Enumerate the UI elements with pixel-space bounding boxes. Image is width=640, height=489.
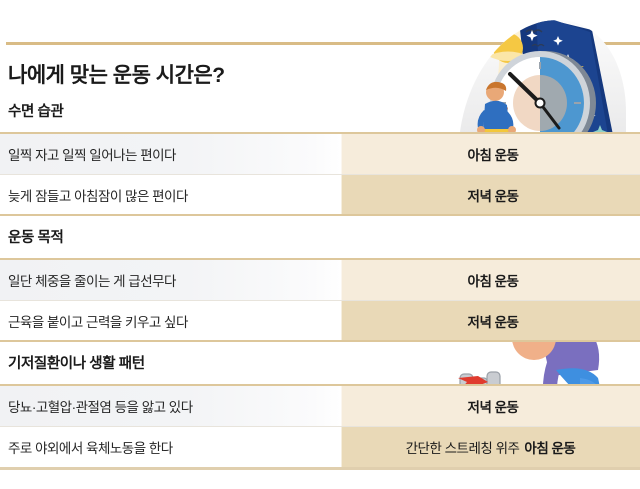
row-value-main: 아침 운동 bbox=[524, 437, 575, 457]
row-value-main: 저녁 운동 bbox=[468, 311, 519, 331]
page-title-lead: 나에게 맞는 bbox=[8, 64, 113, 87]
table-row[interactable]: 당뇨·고혈압·관절염 등을 앓고 있다 저녁 운동 bbox=[0, 386, 640, 427]
row-value-main: 아침 운동 bbox=[468, 144, 519, 164]
row-value: 저녁 운동 bbox=[341, 386, 640, 426]
table-row[interactable]: 근육을 붙이고 근력을 키우고 싶다 저녁 운동 bbox=[0, 301, 640, 342]
advice-table: 수면 습관 일찍 자고 일찍 일어나는 편이다 아침 운동 늦게 잠들고 아침잠… bbox=[0, 92, 640, 470]
row-label: 근육을 붙이고 근력을 키우고 싶다 bbox=[0, 301, 341, 341]
section-header: 기저질환이나 생활 패턴 bbox=[0, 340, 640, 386]
table-row[interactable]: 일찍 자고 일찍 일어나는 편이다 아침 운동 bbox=[0, 134, 640, 175]
row-value-main: 저녁 운동 bbox=[468, 396, 519, 416]
infographic-root: 나에게 맞는 운동 시간은? 수면 습관 일찍 자고 일찍 일어나는 편이다 아… bbox=[0, 0, 640, 484]
section-exercise-goal: 운동 목적 일단 체중을 줄이는 게 급선무다 아침 운동 근육을 붙이고 근력… bbox=[0, 214, 640, 342]
row-value: 저녁 운동 bbox=[341, 301, 640, 341]
section-sleep-habits: 수면 습관 일찍 자고 일찍 일어나는 편이다 아침 운동 늦게 잠들고 아침잠… bbox=[0, 90, 640, 216]
row-value-lead: 간단한 스트레칭 위주 bbox=[406, 437, 520, 457]
row-label: 늦게 잠들고 아침잠이 많은 편이다 bbox=[0, 175, 341, 215]
section-header: 수면 습관 bbox=[0, 90, 640, 134]
section-title: 수면 습관 bbox=[8, 100, 63, 121]
row-value: 아침 운동 bbox=[341, 260, 640, 300]
row-value-main: 아침 운동 bbox=[468, 270, 519, 290]
row-value-main: 저녁 운동 bbox=[468, 185, 519, 205]
row-label: 일단 체중을 줄이는 게 급선무다 bbox=[0, 260, 341, 300]
table-row[interactable]: 주로 야외에서 육체노동을 한다 간단한 스트레칭 위주아침 운동 bbox=[0, 427, 640, 470]
row-value: 저녁 운동 bbox=[341, 175, 640, 215]
row-value: 아침 운동 bbox=[341, 134, 640, 174]
page-title-strong: 운동 시간은? bbox=[113, 64, 225, 87]
row-label: 일찍 자고 일찍 일어나는 편이다 bbox=[0, 134, 341, 174]
table-row[interactable]: 늦게 잠들고 아침잠이 많은 편이다 저녁 운동 bbox=[0, 175, 640, 216]
title-top-rule bbox=[6, 42, 640, 45]
section-title: 기저질환이나 생활 패턴 bbox=[8, 352, 145, 373]
section-header: 운동 목적 bbox=[0, 214, 640, 260]
page-title: 나에게 맞는 운동 시간은? bbox=[8, 62, 225, 90]
table-row[interactable]: 일단 체중을 줄이는 게 급선무다 아침 운동 bbox=[0, 260, 640, 301]
section-health-lifestyle: 기저질환이나 생활 패턴 당뇨·고혈압·관절염 등을 앓고 있다 저녁 운동 주… bbox=[0, 340, 640, 470]
row-label: 당뇨·고혈압·관절염 등을 앓고 있다 bbox=[0, 386, 341, 426]
row-label: 주로 야외에서 육체노동을 한다 bbox=[0, 427, 341, 467]
row-value: 간단한 스트레칭 위주아침 운동 bbox=[341, 427, 640, 467]
section-title: 운동 목적 bbox=[8, 226, 63, 247]
